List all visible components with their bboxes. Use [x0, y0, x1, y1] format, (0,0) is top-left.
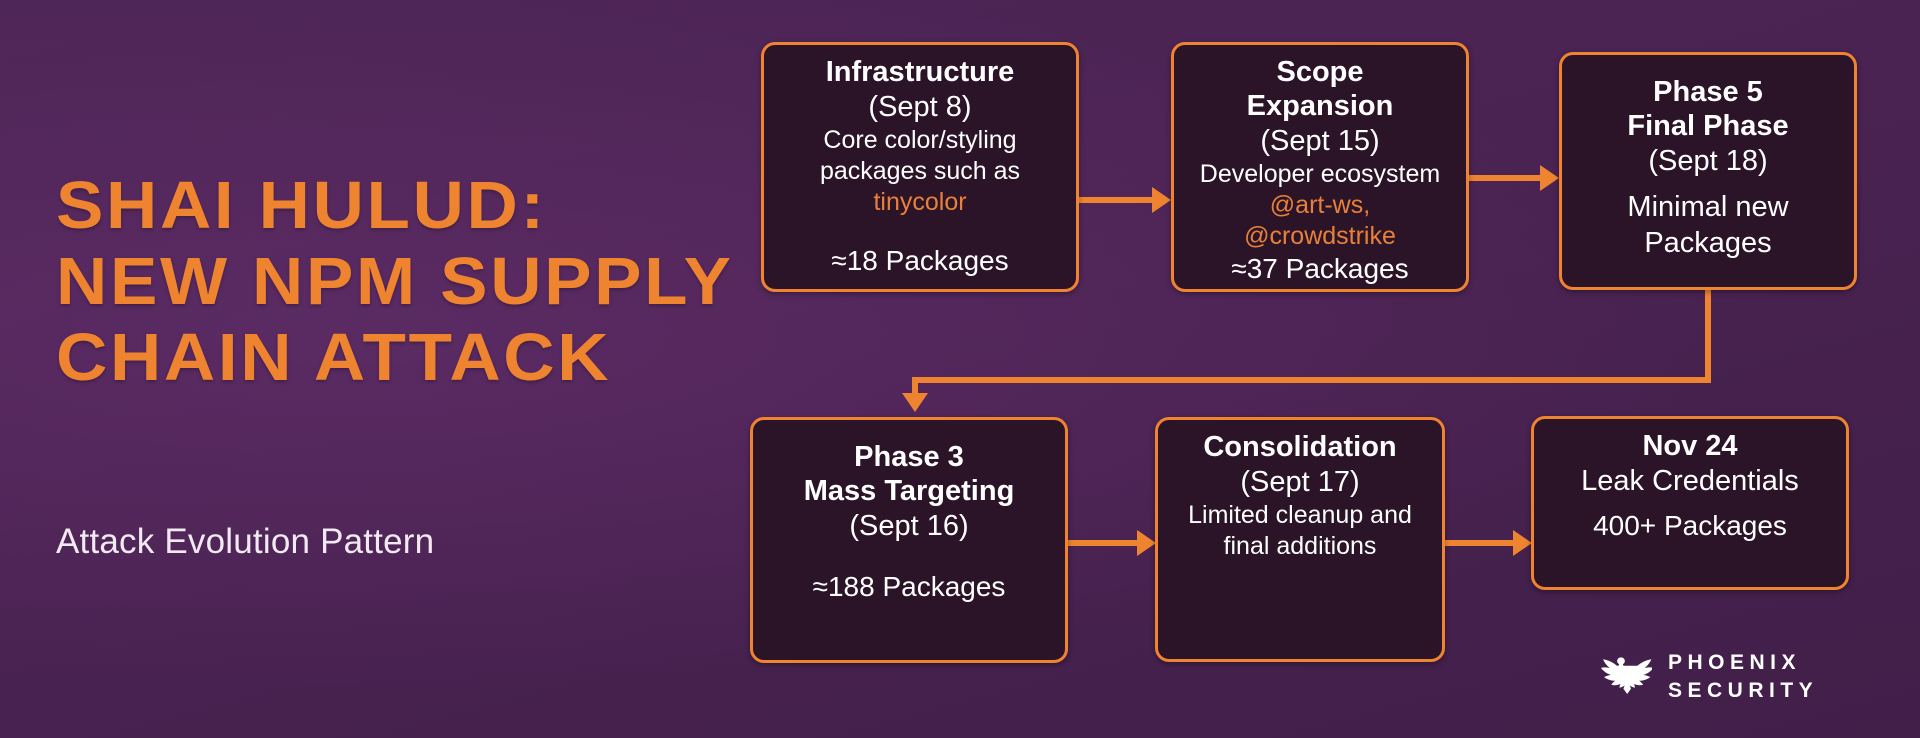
spacer — [763, 430, 1055, 440]
node-scope-expansion-package-count: ≈37 Packages — [1184, 252, 1456, 286]
node-phase-5-date: (Sept 18) — [1572, 143, 1844, 179]
hero-title-line-2: NEW NPM SUPPLY — [56, 244, 671, 320]
spacer — [1572, 65, 1844, 75]
node-phase-5-title-line-1: Phase 5 — [1572, 75, 1844, 109]
node-scope-expansion-package-2: @crowdstrike — [1184, 221, 1456, 252]
node-scope-expansion-description: Developer ecosystem — [1184, 159, 1456, 190]
page-subtitle: Attack Evolution Pattern — [56, 522, 434, 562]
edge-scope-to-phase5-line — [1469, 175, 1542, 181]
node-scope-expansion-title-line-2: Expansion — [1184, 89, 1456, 123]
node-infrastructure-package-name: tinycolor — [873, 188, 966, 216]
hero-title: SHAI HULUD: NEW NPM SUPPLY CHAIN ATTACK — [56, 168, 671, 396]
edge-scope-to-phase5-arrowhead — [1540, 165, 1559, 191]
hero-title-line-3: CHAIN ATTACK — [56, 320, 671, 396]
hero-title-line-1: SHAI HULUD: — [56, 168, 671, 244]
node-scope-expansion-date: (Sept 15) — [1184, 123, 1456, 159]
spacer — [1544, 499, 1836, 509]
edge-consolidation-to-nov24-line — [1445, 540, 1517, 546]
node-phase-5-final[interactable]: Phase 5 Final Phase (Sept 18) Minimal ne… — [1559, 52, 1857, 290]
node-nov-24[interactable]: Nov 24 Leak Credentials 400+ Packages — [1531, 416, 1849, 590]
node-scope-expansion-title-line-1: Scope — [1184, 55, 1456, 89]
edge-infrastructure-to-scope-line — [1079, 197, 1155, 203]
node-consolidation-date: (Sept 17) — [1168, 464, 1432, 500]
edge-phase5-to-phase3-arrowhead — [902, 393, 928, 412]
node-phase-3-title-line-1: Phase 3 — [763, 440, 1055, 474]
edge-consolidation-to-nov24-arrowhead — [1513, 530, 1532, 556]
edge-phase5-to-phase3-vertical-down — [1705, 289, 1711, 383]
page-title: SHAI HULUD: NEW NPM SUPPLY CHAIN ATTACK — [56, 168, 636, 396]
node-phase-5-title-line-2: Final Phase — [1572, 109, 1844, 143]
node-consolidation-title: Consolidation — [1168, 430, 1432, 464]
spacer — [1572, 179, 1844, 189]
edge-phase3-to-consolidation-arrowhead — [1137, 530, 1156, 556]
node-nov-24-description: Leak Credentials — [1544, 463, 1836, 499]
node-infrastructure[interactable]: Infrastructure (Sept 8) Core color/styli… — [761, 42, 1079, 292]
edge-infrastructure-to-scope-arrowhead — [1152, 187, 1171, 213]
spacer — [774, 218, 1066, 244]
node-infrastructure-description: Core color/styling packages such as tiny… — [774, 125, 1066, 218]
node-phase-3-title-line-2: Mass Targeting — [763, 474, 1055, 508]
node-consolidation-description: Limited cleanup and final additions — [1168, 500, 1432, 562]
edge-phase3-to-consolidation-line — [1068, 540, 1140, 546]
node-scope-expansion-package-1: @art-ws, — [1184, 190, 1456, 221]
node-infrastructure-title: Infrastructure — [774, 55, 1066, 89]
phoenix-bird-icon — [1590, 645, 1652, 707]
node-consolidation[interactable]: Consolidation (Sept 17) Limited cleanup … — [1155, 417, 1445, 662]
node-phase-3-package-count: ≈188 Packages — [763, 570, 1055, 604]
phoenix-security-logo: PHOENIX SECURITY — [1590, 645, 1818, 707]
node-phase-3-mass-targeting[interactable]: Phase 3 Mass Targeting (Sept 16) ≈188 Pa… — [750, 417, 1068, 663]
node-nov-24-package-count: 400+ Packages — [1544, 509, 1836, 543]
edge-phase5-to-phase3-horizontal — [912, 377, 1711, 383]
logo-wordmark: PHOENIX SECURITY — [1668, 652, 1818, 701]
node-phase-5-description: Minimal new Packages — [1572, 189, 1844, 261]
spacer — [763, 544, 1055, 570]
node-scope-expansion[interactable]: Scope Expansion (Sept 15) Developer ecos… — [1171, 42, 1469, 292]
logo-line-1: PHOENIX — [1668, 652, 1818, 673]
node-infrastructure-package-count: ≈18 Packages — [774, 244, 1066, 278]
node-infrastructure-date: (Sept 8) — [774, 89, 1066, 125]
node-infrastructure-desc-text: Core color/styling packages such as — [820, 126, 1020, 185]
node-nov-24-title: Nov 24 — [1544, 429, 1836, 463]
node-phase-3-date: (Sept 16) — [763, 508, 1055, 544]
logo-line-2: SECURITY — [1668, 680, 1818, 701]
